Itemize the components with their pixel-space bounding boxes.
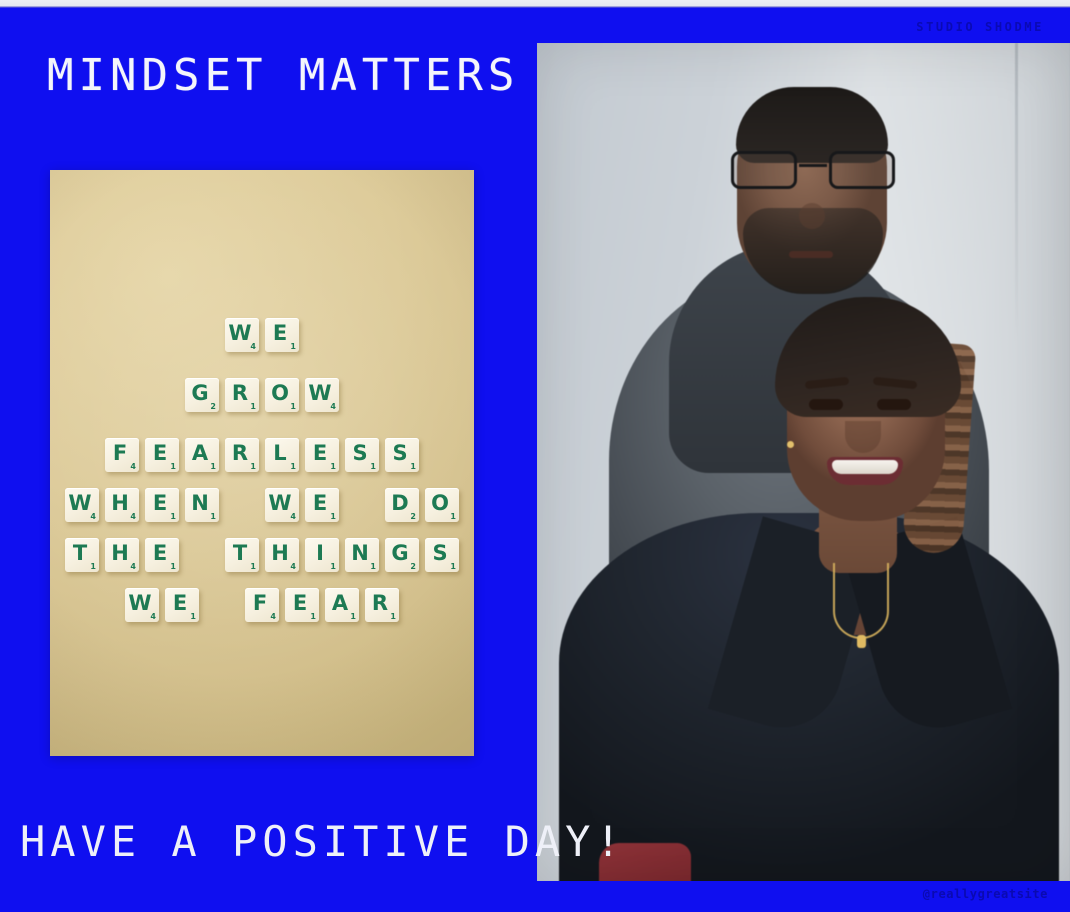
scrabble-tile-space <box>205 588 239 622</box>
scrabble-tile: R1 <box>225 378 259 412</box>
scrabble-tile-row: T1H4E1T1H4I1N1G2S1 <box>50 538 474 572</box>
scrabble-tile: W4 <box>305 378 339 412</box>
glasses-lens-right <box>829 151 895 189</box>
tile-point-value: 4 <box>90 513 96 521</box>
tile-point-value: 1 <box>350 613 356 621</box>
scrabble-tile: E1 <box>145 538 179 572</box>
tile-point-value: 1 <box>370 463 376 471</box>
scrabble-tile: E1 <box>165 588 199 622</box>
scrabble-tile-space <box>185 538 219 572</box>
tile-point-value: 1 <box>170 563 176 571</box>
tile-point-value: 1 <box>290 343 296 351</box>
scrabble-tile-space <box>345 488 379 522</box>
scrabble-tile-grid: W4E1G2R1O1W4F4E1A1R1L1E1S1S1W4H4E1N1W4E1… <box>50 170 474 756</box>
scrabble-tile: A1 <box>185 438 219 472</box>
couple-portrait-photo <box>537 43 1070 881</box>
tile-point-value: 4 <box>130 563 136 571</box>
tile-point-value: 4 <box>330 403 336 411</box>
wall-corner-line <box>1015 43 1018 343</box>
tile-point-value: 1 <box>450 563 456 571</box>
tile-point-value: 1 <box>330 513 336 521</box>
portrait-soft-layer <box>537 43 1070 881</box>
tile-point-value: 1 <box>370 563 376 571</box>
tile-point-value: 1 <box>170 513 176 521</box>
tile-point-value: 1 <box>290 463 296 471</box>
scrabble-tile: E1 <box>285 588 319 622</box>
social-handle: @reallygreatsite <box>923 887 1048 901</box>
scrabble-tile: T1 <box>65 538 99 572</box>
woman-eye-right <box>877 399 911 410</box>
scrabble-tile: L1 <box>265 438 299 472</box>
glasses-bridge <box>799 164 827 167</box>
scrabble-tile: H4 <box>105 538 139 572</box>
scrabble-tile: H4 <box>105 488 139 522</box>
footer-message: HAVE A POSITIVE DAY! <box>20 817 626 867</box>
tile-point-value: 1 <box>250 403 256 411</box>
tile-point-value: 1 <box>250 463 256 471</box>
scrabble-tile: O1 <box>265 378 299 412</box>
woman-eye-left <box>809 399 843 410</box>
scrabble-tile: S1 <box>385 438 419 472</box>
scrabble-tile: N1 <box>345 538 379 572</box>
scrabble-tile: W4 <box>125 588 159 622</box>
scrabble-tile: R1 <box>365 588 399 622</box>
scrabble-tile: F4 <box>105 438 139 472</box>
scrabble-tile: N1 <box>185 488 219 522</box>
page-title: MINDSET MATTERS <box>47 50 519 102</box>
woman-necklace-pendant <box>857 635 866 648</box>
tile-point-value: 4 <box>290 513 296 521</box>
scrabble-tile: H4 <box>265 538 299 572</box>
tile-point-value: 1 <box>210 463 216 471</box>
tile-point-value: 1 <box>310 613 316 621</box>
tile-point-value: 2 <box>210 403 216 411</box>
tile-point-value: 1 <box>290 403 296 411</box>
scrabble-tile: G2 <box>385 538 419 572</box>
tile-point-value: 4 <box>250 343 256 351</box>
scrabble-tiles-photo: W4E1G2R1O1W4F4E1A1R1L1E1S1S1W4H4E1N1W4E1… <box>50 170 474 756</box>
top-edge-divider <box>0 6 1070 8</box>
man-eyeglasses <box>729 151 897 191</box>
scrabble-tile: W4 <box>225 318 259 352</box>
scrabble-tile: G2 <box>185 378 219 412</box>
tile-point-value: 1 <box>410 463 416 471</box>
scrabble-tile: S1 <box>425 538 459 572</box>
scrabble-tile: E1 <box>145 488 179 522</box>
glasses-lens-left <box>731 151 797 189</box>
scrabble-tile: E1 <box>305 488 339 522</box>
scrabble-tile: S1 <box>345 438 379 472</box>
tile-point-value: 1 <box>170 463 176 471</box>
tile-point-value: 4 <box>130 463 136 471</box>
woman-necklace-chain <box>833 563 889 639</box>
studio-brand-mark: STUDIO SHODME <box>916 20 1044 34</box>
scrabble-tile-row: W4E1F4E1A1R1 <box>50 588 474 622</box>
scrabble-tile: F4 <box>245 588 279 622</box>
tile-point-value: 1 <box>250 563 256 571</box>
tile-point-value: 1 <box>330 563 336 571</box>
tile-point-value: 1 <box>210 513 216 521</box>
scrabble-tile: W4 <box>65 488 99 522</box>
scrabble-tile-row: G2R1O1W4 <box>50 378 474 412</box>
scrabble-tile-row: F4E1A1R1L1E1S1S1 <box>50 438 474 472</box>
scrabble-tile: E1 <box>265 318 299 352</box>
scrabble-tile: R1 <box>225 438 259 472</box>
poster-canvas: MINDSET MATTERS STUDIO SHODME W4E1G2R1O1… <box>0 0 1070 912</box>
scrabble-tile: E1 <box>305 438 339 472</box>
tile-point-value: 1 <box>390 613 396 621</box>
woman-earring <box>787 441 794 448</box>
scrabble-tile: I1 <box>305 538 339 572</box>
tile-point-value: 1 <box>450 513 456 521</box>
man-mouth <box>789 251 833 258</box>
man-nose <box>799 203 825 229</box>
scrabble-tile-row: W4E1 <box>50 318 474 352</box>
scrabble-tile: E1 <box>145 438 179 472</box>
scrabble-tile: W4 <box>265 488 299 522</box>
scrabble-tile: D2 <box>385 488 419 522</box>
tile-point-value: 4 <box>270 613 276 621</box>
scrabble-tile-row: W4H4E1N1W4E1D2O1 <box>50 488 474 522</box>
tile-point-value: 4 <box>130 513 136 521</box>
woman-teeth <box>832 460 898 474</box>
scrabble-tile: O1 <box>425 488 459 522</box>
tile-point-value: 4 <box>150 613 156 621</box>
scrabble-tile-space <box>225 488 259 522</box>
tile-point-value: 4 <box>290 563 296 571</box>
scrabble-tile: T1 <box>225 538 259 572</box>
tile-point-value: 1 <box>90 563 96 571</box>
tile-point-value: 2 <box>410 563 416 571</box>
scrabble-tile: A1 <box>325 588 359 622</box>
tile-point-value: 1 <box>190 613 196 621</box>
tile-point-value: 2 <box>410 513 416 521</box>
tile-point-value: 1 <box>330 463 336 471</box>
woman-smile <box>827 457 903 485</box>
